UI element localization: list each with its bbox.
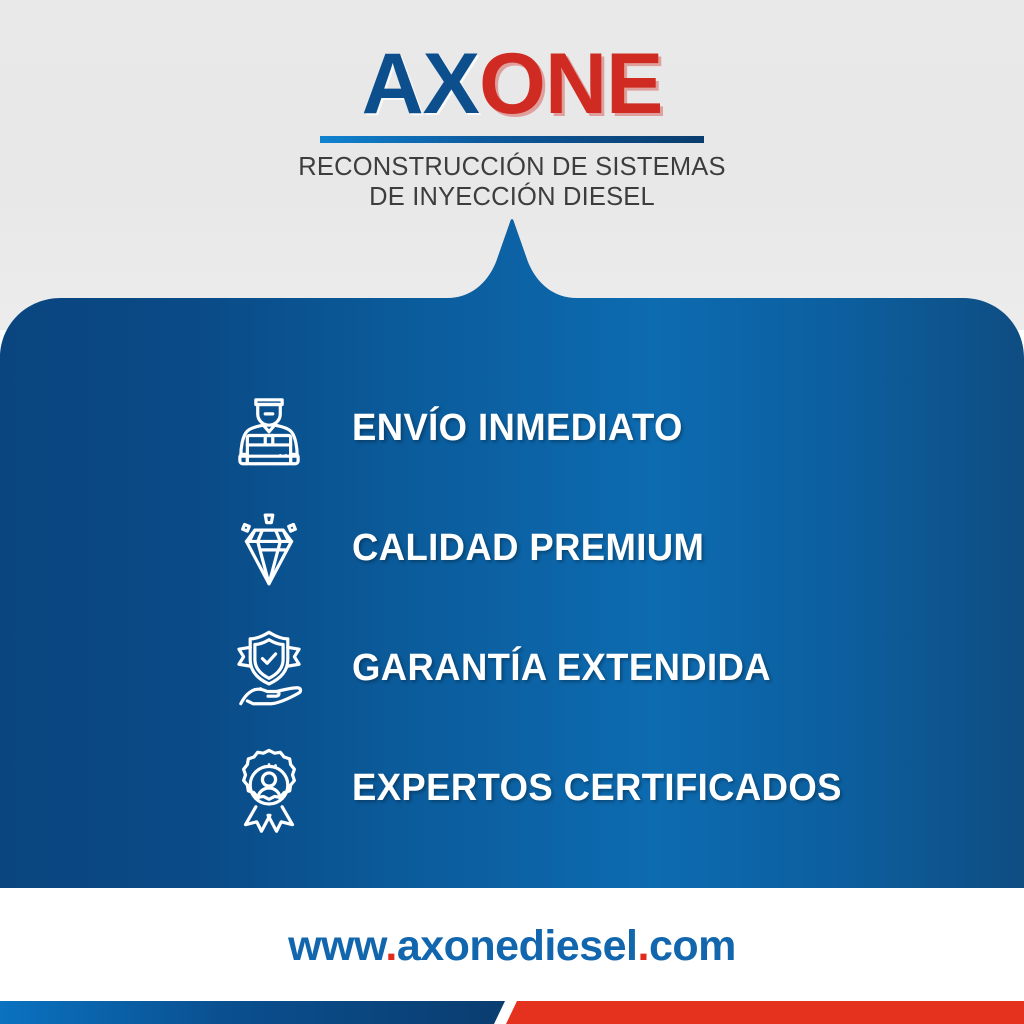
stripe-shape <box>0 984 1024 1024</box>
promotional-poster: AXONE RECONSTRUCCIÓN DE SISTEMAS DE INYE… <box>0 0 1024 1024</box>
feature-item-calidad-premium: CALIDAD PREMIUM <box>0 488 1024 608</box>
award-badge-person-icon <box>222 741 316 835</box>
feature-label: ENVÍO INMEDIATO <box>352 407 683 450</box>
brand-tagline: RECONSTRUCCIÓN DE SISTEMAS DE INYECCIÓN … <box>0 152 1024 212</box>
logo-text-one: ONE <box>479 36 662 132</box>
url-dot-1: . <box>385 922 396 970</box>
feature-item-garantia-extendida: GARANTÍA EXTENDIDA <box>0 608 1024 728</box>
feature-list: ENVÍO INMEDIATO CALIDAD PREMIUM <box>0 368 1024 848</box>
url-tld: com <box>649 922 736 970</box>
tagline-line-2: DE INYECCIÓN DIESEL <box>0 182 1024 212</box>
tagline-line-1: RECONSTRUCCIÓN DE SISTEMAS <box>0 152 1024 182</box>
feature-label: EXPERTOS CERTIFICADOS <box>352 767 842 810</box>
feature-label: CALIDAD PREMIUM <box>352 527 704 570</box>
logo-wordmark: AXONE <box>0 38 1024 130</box>
diamond-icon <box>222 501 316 595</box>
delivery-person-box-icon <box>222 381 316 475</box>
brand-logo: AXONE RECONSTRUCCIÓN DE SISTEMAS DE INYE… <box>0 38 1024 212</box>
logo-underline-rule <box>320 136 704 143</box>
shield-check-hand-icon <box>222 621 316 715</box>
feature-label: GARANTÍA EXTENDIDA <box>352 647 771 690</box>
feature-item-envio-inmediato: ENVÍO INMEDIATO <box>0 368 1024 488</box>
url-dot-2: . <box>638 922 649 970</box>
logo-text-ax: AX <box>362 36 479 132</box>
url-domain: axonediesel <box>397 922 638 970</box>
bottom-accent-stripe <box>0 984 1024 1024</box>
website-url[interactable]: www.axonediesel.com <box>0 922 1024 971</box>
feature-item-expertos-certificados: EXPERTOS CERTIFICADOS <box>0 728 1024 848</box>
url-prefix: www <box>288 922 385 970</box>
